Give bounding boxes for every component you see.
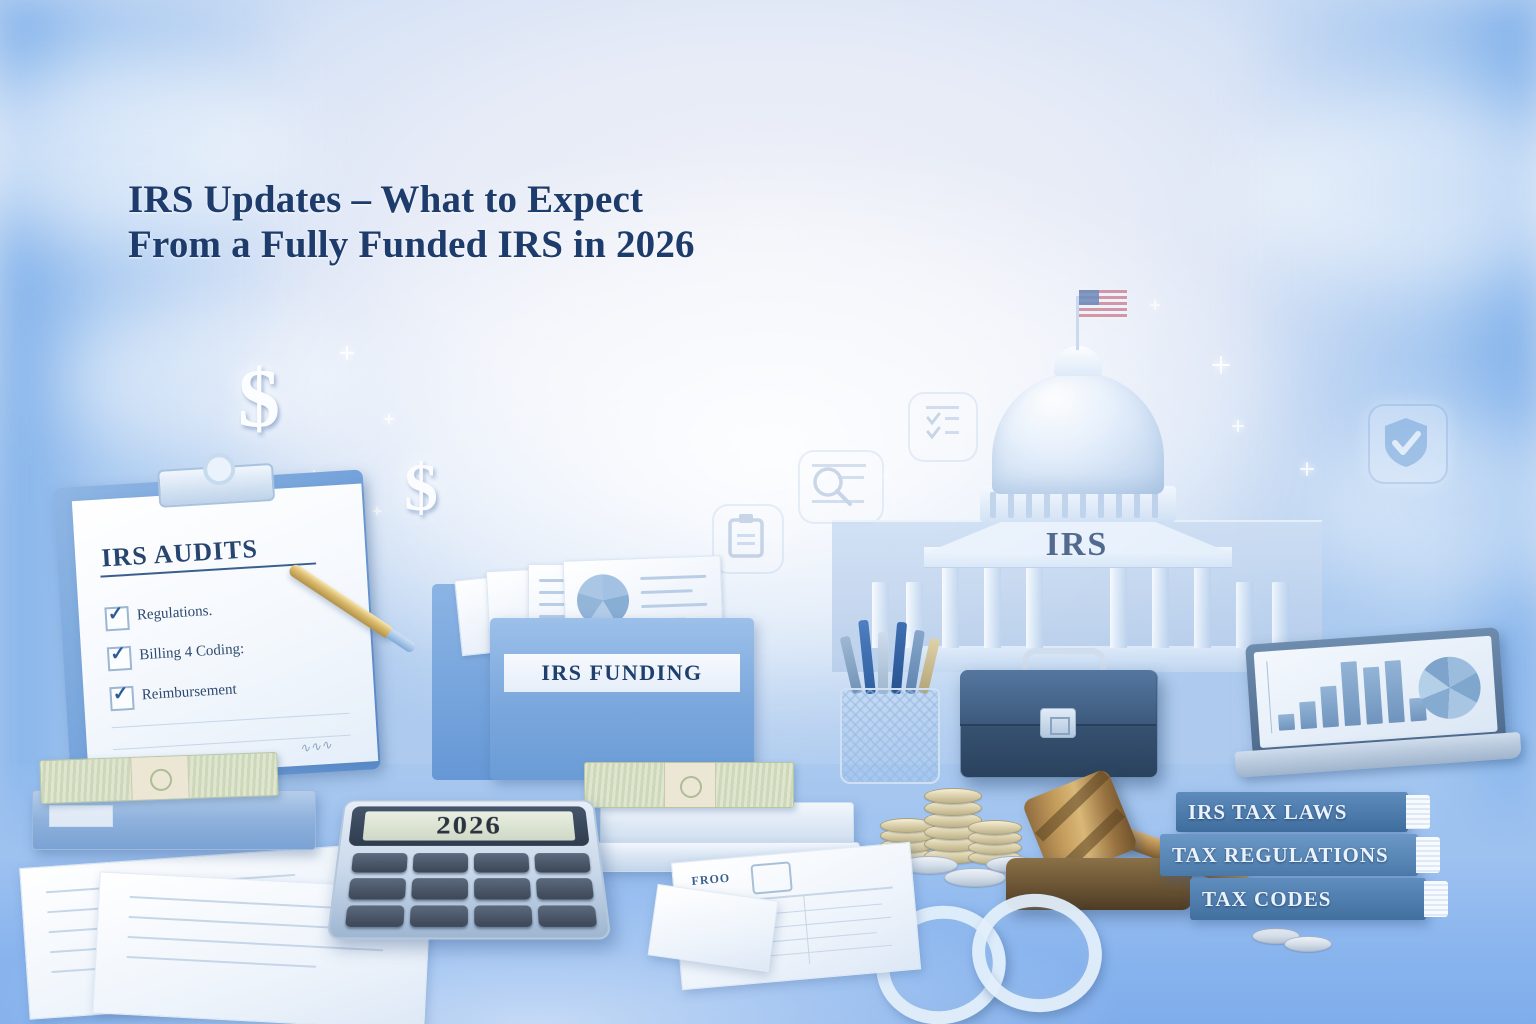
- laptop[interactable]: [1227, 626, 1523, 796]
- capitol-column: [984, 564, 1001, 648]
- capitol-irs-sign: IRS: [832, 526, 1322, 564]
- signature-mark: ∿∿∿: [298, 737, 332, 757]
- calculator-key[interactable]: [348, 878, 406, 899]
- calculator[interactable]: 2026: [326, 800, 611, 940]
- laptop-screen: [1254, 636, 1498, 748]
- calculator-key[interactable]: [413, 853, 468, 873]
- coin: [1284, 936, 1332, 952]
- capitol-column: [1110, 564, 1127, 648]
- pen-icon: [878, 632, 888, 694]
- capitol-column: [942, 564, 959, 648]
- calculator-body: 2026: [326, 800, 611, 940]
- dollar-sign-icon: $: [238, 350, 280, 447]
- clipboard-item-label: Regulations.: [136, 603, 212, 625]
- cash-bundle: [39, 752, 278, 804]
- form-logo-icon: [750, 861, 792, 894]
- chart-bar: [1320, 686, 1339, 728]
- book-title: TAX REGULATIONS: [1172, 843, 1389, 868]
- chart-bar: [1363, 667, 1383, 725]
- cash-bundle: [584, 762, 794, 808]
- clipboard-item-label: Reimbursement: [141, 682, 237, 705]
- calculator-key[interactable]: [411, 878, 468, 899]
- book: IRS TAX LAWS: [1176, 792, 1408, 832]
- capitol-column: [1236, 582, 1253, 648]
- book-title: TAX CODES: [1202, 887, 1331, 912]
- calculator-key[interactable]: [474, 878, 531, 899]
- calculator-key[interactable]: [345, 905, 405, 927]
- clipboard-clip: [157, 463, 275, 508]
- folder-label-text: IRS FUNDING: [541, 660, 702, 686]
- irs-capitol-building: IRS: [832, 292, 1322, 672]
- folder-label: IRS FUNDING: [504, 654, 740, 692]
- briefcase: [960, 648, 1156, 776]
- calculator-display: 2026: [363, 811, 576, 840]
- calculator-key[interactable]: [536, 878, 594, 899]
- chart-bar: [1385, 660, 1405, 723]
- capitol-column: [1194, 564, 1211, 648]
- calculator-keypad[interactable]: [345, 853, 597, 927]
- capitol-dome: [992, 372, 1164, 494]
- mesh-cup: [840, 688, 940, 784]
- briefcase-lock-icon: [1040, 708, 1076, 738]
- chart-bar: [1299, 701, 1317, 729]
- book: TAX CODES: [1190, 878, 1426, 920]
- capitol-lantern: [1054, 346, 1102, 376]
- capitol-column: [1152, 564, 1169, 648]
- book-title: IRS TAX LAWS: [1188, 800, 1347, 825]
- chart-y-axis: [1266, 661, 1272, 733]
- check-icon: ✓: [112, 682, 129, 706]
- irs-audits-clipboard[interactable]: IRS AUDITS ✓ Regulations. ✓ Billing 4 Co…: [53, 460, 402, 800]
- folder-front: IRS FUNDING: [490, 618, 754, 780]
- calculator-key[interactable]: [534, 853, 591, 873]
- dollar-sign-icon: $: [404, 448, 438, 527]
- irs-funding-folder[interactable]: IRS FUNDING: [432, 556, 762, 786]
- book: TAX REGULATIONS: [1160, 834, 1418, 876]
- form-id-label: FROO: [691, 871, 731, 889]
- calculator-key[interactable]: [351, 853, 408, 873]
- capitol-column: [1272, 582, 1289, 648]
- check-icon: ✓: [110, 642, 127, 666]
- shield-check-icon: [1368, 404, 1444, 480]
- calculator-key[interactable]: [474, 853, 530, 873]
- pen-icon: [840, 636, 863, 695]
- capitol-column: [1026, 564, 1043, 648]
- calculator-key[interactable]: [538, 905, 598, 927]
- page-title-line-1: IRS Updates – What to Expect: [128, 180, 695, 220]
- calculator-key[interactable]: [474, 905, 532, 927]
- calculator-display-value: 2026: [436, 811, 502, 840]
- calculator-bezel: 2026: [348, 806, 589, 846]
- pen-holder-cup: [840, 640, 940, 780]
- tax-book-stack: IRS TAX LAWS TAX REGULATIONS TAX CODES: [1150, 792, 1450, 928]
- clipboard-item-label: Billing 4 Coding:: [139, 641, 245, 664]
- chart-bar: [1341, 661, 1361, 726]
- pie-chart-icon: [1416, 655, 1482, 721]
- check-icon: ✓: [107, 602, 124, 626]
- calculator-key[interactable]: [410, 905, 468, 927]
- irs-2026-hero-illustration: IRS Updates – What to Expect From a Full…: [0, 0, 1536, 1024]
- clipboard-paper: IRS AUDITS ✓ Regulations. ✓ Billing 4 Co…: [72, 484, 378, 779]
- chart-bar: [1278, 714, 1295, 731]
- page-title-line-2: From a Fully Funded IRS in 2026: [128, 220, 695, 270]
- us-flag-icon: [1079, 290, 1127, 320]
- page-title: IRS Updates – What to Expect From a Full…: [128, 180, 695, 270]
